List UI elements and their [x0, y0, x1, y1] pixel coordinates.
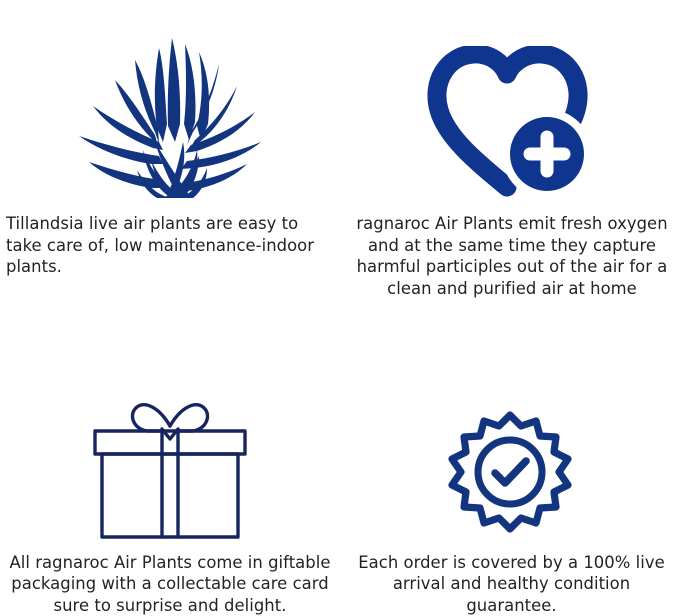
feature-cell-giftable-packaging: All ragnaroc Air Plants come in giftable…: [0, 308, 340, 616]
feature-cell-air-plant-care: Tillandsia live air plants are easy to t…: [0, 0, 340, 308]
feature-caption-air-plant-care: Tillandsia live air plants are easy to t…: [0, 213, 340, 278]
feature-cell-live-arrival-guarantee: Each order is covered by a 100% live arr…: [340, 308, 679, 616]
gift-box-icon: [0, 308, 340, 539]
heart-plus-icon: [340, 0, 679, 198]
feature-cell-fresh-oxygen: ragnaroc Air Plants emit fresh oxygen an…: [340, 0, 679, 308]
feature-caption-live-arrival-guarantee: Each order is covered by a 100% live arr…: [340, 552, 679, 616]
air-plant-icon: [0, 0, 340, 198]
feature-caption-giftable-packaging: All ragnaroc Air Plants come in giftable…: [0, 552, 340, 616]
guarantee-badge-icon: [340, 308, 679, 539]
feature-grid: Tillandsia live air plants are easy to t…: [0, 0, 679, 616]
feature-caption-fresh-oxygen: ragnaroc Air Plants emit fresh oxygen an…: [340, 213, 679, 299]
